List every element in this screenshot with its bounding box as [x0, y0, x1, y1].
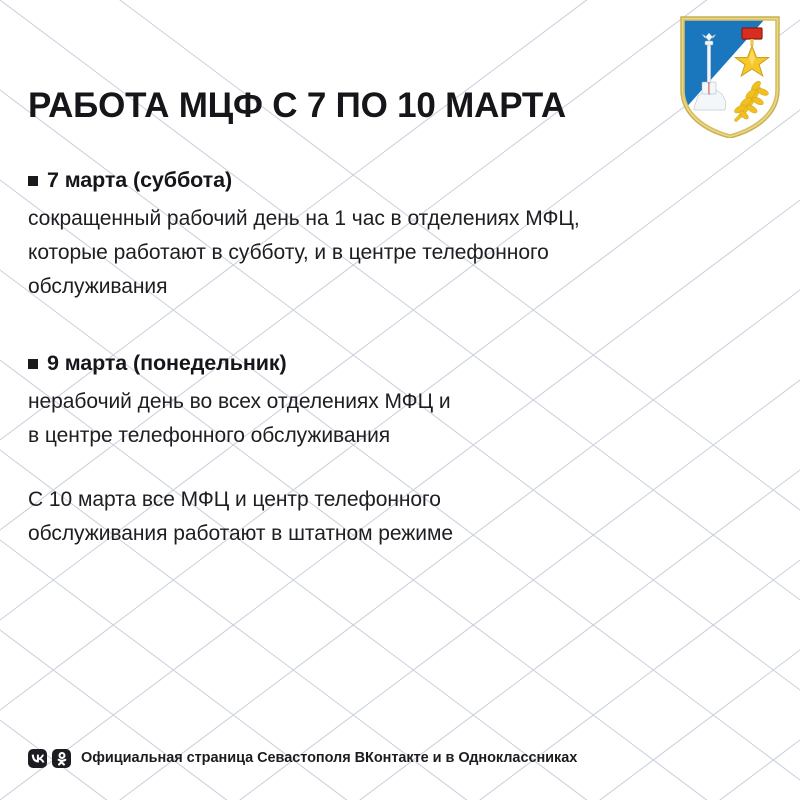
poster-content: 7 марта (суббота) сокращенный рабочий де…: [28, 165, 728, 551]
section-heading-march-9: 9 марта (понедельник): [28, 348, 728, 378]
schedule-section-march-9: 9 марта (понедельник) нерабочий день во …: [28, 348, 728, 453]
body-line: обслуживания работают в штатном режиме: [28, 517, 728, 551]
body-line: которые работают в субботу, и в центре т…: [28, 236, 728, 270]
section-heading-march-7: 7 марта (суббота): [28, 165, 728, 195]
footer-text-label: Официальная страница Севастополя ВКонтак…: [81, 749, 577, 768]
section-heading-label: 9 марта (понедельник): [47, 348, 287, 378]
body-line: С 10 марта все МФЦ и центр телефонного: [28, 483, 728, 517]
body-line: в центре телефонного обслуживания: [28, 419, 728, 453]
page-title: РАБОТА МЦФ С 7 ПО 10 МАРТА: [28, 85, 566, 127]
body-line: обслуживания: [28, 270, 728, 304]
poster-canvas: РАБОТА МЦФ С 7 ПО 10 МАРТА 7 марта (субб…: [0, 0, 800, 800]
sevastopol-coat-of-arms-emblem: [678, 16, 782, 138]
section-heading-label: 7 марта (суббота): [47, 165, 232, 195]
body-line: сокращенный рабочий день на 1 час в отде…: [28, 202, 728, 236]
body-line: нерабочий день во всех отделениях МФЦ и: [28, 385, 728, 419]
closing-paragraph: С 10 марта все МФЦ и центр телефонного о…: [28, 483, 728, 551]
bullet-square-icon: [28, 176, 38, 186]
bullet-square-icon: [28, 359, 38, 369]
schedule-section-march-7: 7 марта (суббота) сокращенный рабочий де…: [28, 165, 728, 304]
footer-credit: Официальная страница Севастополя ВКонтак…: [28, 749, 577, 768]
section-spacer: [28, 304, 728, 348]
ok-icon[interactable]: [52, 749, 71, 768]
section-spacer: [28, 453, 728, 483]
section-body-march-7: сокращенный рабочий день на 1 час в отде…: [28, 202, 728, 304]
vk-icon[interactable]: [28, 749, 47, 768]
section-body-march-9: нерабочий день во всех отделениях МФЦ и …: [28, 385, 728, 453]
